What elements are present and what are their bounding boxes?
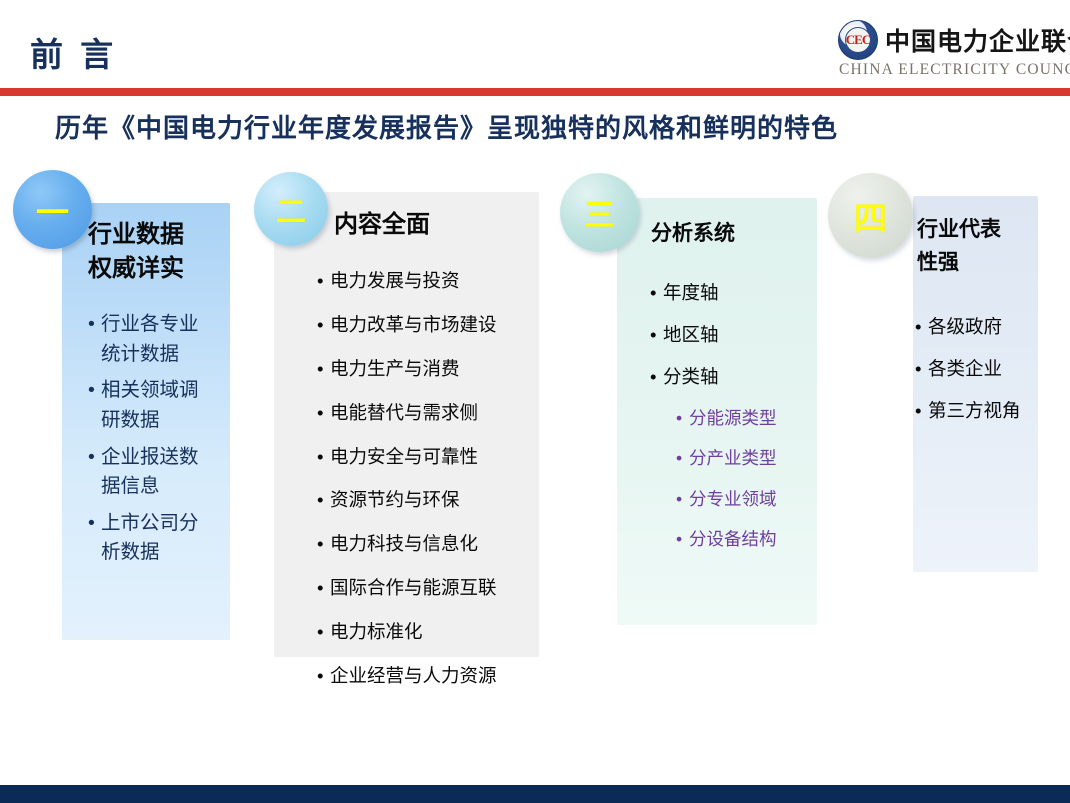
column-title-1: 行业数据 权威详实 — [88, 218, 228, 285]
sub-list-item: 分能源类型 — [676, 406, 815, 431]
column-bullets-4: 各级政府各类企业第三方视角 — [915, 314, 1040, 440]
list-item: 地区轴 — [650, 322, 815, 348]
list-item: 电力生产与消费 — [317, 356, 537, 382]
list-item: 企业经营与人力资源 — [317, 663, 537, 689]
list-item: 分类轴分能源类型分产业类型分专业领域分设备结构 — [650, 364, 815, 552]
list-item: 各类企业 — [915, 356, 1040, 382]
cec-emblem-icon: CEC — [838, 20, 878, 60]
number-badge-3: 三 — [560, 173, 639, 252]
number-badge-1: 一 — [13, 170, 92, 249]
emblem-monogram: CEC — [839, 21, 877, 59]
page-title: 前 言 — [30, 28, 117, 76]
list-item: 第三方视角 — [915, 398, 1040, 424]
footer-bar — [0, 785, 1070, 803]
list-item: 电力标准化 — [317, 619, 537, 645]
list-item: 行业各专业 统计数据 — [88, 310, 228, 369]
sub-list-item: 分设备结构 — [676, 527, 815, 552]
slide-canvas: 前 言 CEC 中国电力企业联合会 CHINA ELECTRICITY COUN… — [0, 0, 1070, 803]
column-bullets-1: 行业各专业 统计数据相关领域调 研数据企业报送数 据信息上市公司分 析数据 — [88, 310, 228, 575]
list-item: 电力发展与投资 — [317, 268, 537, 294]
list-item: 资源节约与环保 — [317, 487, 537, 513]
column-title-4: 行业代表 性强 — [917, 214, 1042, 279]
number-badge-2: 二 — [254, 172, 328, 246]
list-item: 上市公司分 析数据 — [88, 509, 228, 568]
list-item: 各级政府 — [915, 314, 1040, 340]
section-heading: 历年《中国电力行业年度发展报告》呈现独特的风格和鲜明的特色 — [55, 108, 838, 145]
list-item: 企业报送数 据信息 — [88, 443, 228, 502]
list-item: 相关领域调 研数据 — [88, 376, 228, 435]
sub-list-item: 分产业类型 — [676, 446, 815, 471]
column-bullets-3: 年度轴地区轴分类轴分能源类型分产业类型分专业领域分设备结构 — [650, 280, 815, 568]
logo-name-en: CHINA ELECTRICITY COUNCIL — [839, 61, 1070, 79]
column-bullets-2: 电力发展与投资电力改革与市场建设电力生产与消费电能替代与需求侧电力安全与可靠性资… — [317, 268, 537, 707]
logo-primary-row: CEC 中国电力企业联合会 — [838, 20, 1070, 60]
list-item: 电力安全与可靠性 — [317, 444, 537, 470]
header-red-divider — [0, 88, 1070, 96]
column-title-3: 分析系统 — [651, 219, 735, 248]
list-item: 电力科技与信息化 — [317, 531, 537, 557]
number-badge-4: 四 — [828, 173, 913, 258]
column-subbullets-3: 分能源类型分产业类型分专业领域分设备结构 — [676, 406, 815, 552]
list-item: 年度轴 — [650, 280, 815, 306]
list-item: 电力改革与市场建设 — [317, 312, 537, 338]
organization-logo: CEC 中国电力企业联合会 CHINA ELECTRICITY COUNCIL — [838, 20, 1070, 79]
sub-list-item: 分专业领域 — [676, 487, 815, 512]
column-title-2: 内容全面 — [334, 208, 430, 242]
list-item: 国际合作与能源互联 — [317, 575, 537, 601]
logo-name-cn: 中国电力企业联合会 — [885, 22, 1070, 58]
list-item: 电能替代与需求侧 — [317, 400, 537, 426]
